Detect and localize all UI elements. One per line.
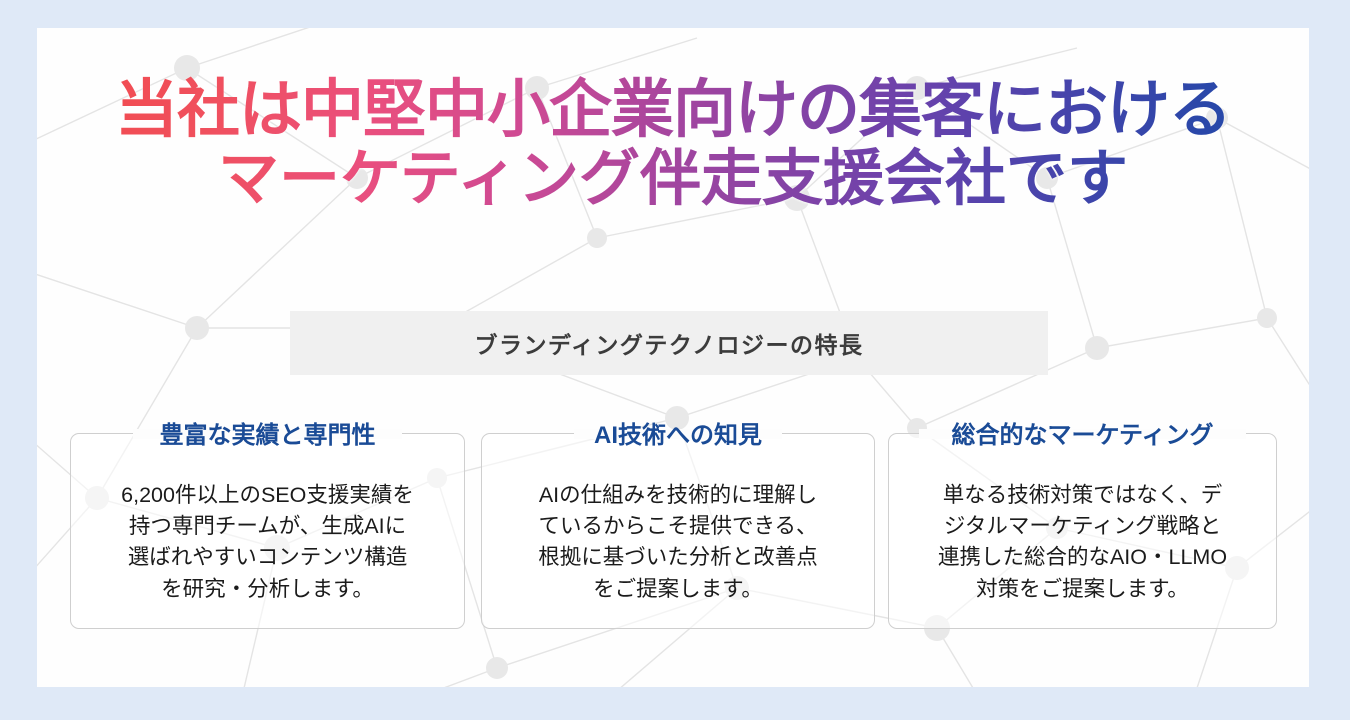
card-title-border-mask — [919, 429, 1246, 439]
feature-card-row: 豊富な実績と専門性 6,200件以上のSEO支援実績を 持つ専門チームが、生成A… — [37, 433, 1309, 663]
feature-card-3: 総合的なマーケティング 単なる技術対策ではなく、デ ジタルマーケティング戦略と … — [888, 433, 1277, 629]
card-body-line: 連携した総合的なAIO・LLMO — [889, 542, 1276, 573]
card-body-2: AIの仕組みを技術的に理解し ているからこそ提供できる、 根拠に基づいた分析と改… — [482, 480, 874, 605]
card-title-border-mask — [133, 429, 402, 439]
headline-line-1: 当社は中堅中小企業向けの集客における — [37, 76, 1309, 145]
card-body-line: 6,200件以上のSEO支援実績を — [71, 480, 464, 511]
card-body-line: 対策をご提案します。 — [889, 574, 1276, 605]
card-body-line: をご提案します。 — [482, 574, 874, 605]
card-body-line: 持つ専門チームが、生成AIに — [71, 511, 464, 542]
feature-card-1: 豊富な実績と専門性 6,200件以上のSEO支援実績を 持つ専門チームが、生成A… — [70, 433, 465, 629]
card-body-3: 単なる技術対策ではなく、デ ジタルマーケティング戦略と 連携した総合的なAIO・… — [889, 480, 1276, 605]
slide-root: 当社は中堅中小企業向けの集客における マーケティング伴走支援会社です ブランディ… — [0, 0, 1350, 720]
card-body-line: を研究・分析します。 — [71, 574, 464, 605]
subtitle-banner: ブランディングテクノロジーの特長 — [290, 311, 1048, 375]
card-body-line: 根拠に基づいた分析と改善点 — [482, 542, 874, 573]
feature-card-2: AI技術への知見 AIの仕組みを技術的に理解し ているからこそ提供できる、 根拠… — [481, 433, 875, 629]
card-body-line: 選ばれやすいコンテンツ構造 — [71, 542, 464, 573]
card-title-border-mask — [574, 429, 782, 439]
slide-canvas: 当社は中堅中小企業向けの集客における マーケティング伴走支援会社です ブランディ… — [37, 28, 1309, 687]
card-body-line: ジタルマーケティング戦略と — [889, 511, 1276, 542]
page-title: 当社は中堅中小企業向けの集客における マーケティング伴走支援会社です — [37, 76, 1309, 212]
card-body-line: ているからこそ提供できる、 — [482, 511, 874, 542]
card-body-line: AIの仕組みを技術的に理解し — [482, 480, 874, 511]
headline-line-2: マーケティング伴走支援会社です — [37, 145, 1309, 212]
card-body-1: 6,200件以上のSEO支援実績を 持つ専門チームが、生成AIに 選ばれやすいコ… — [71, 480, 464, 605]
card-body-line: 単なる技術対策ではなく、デ — [889, 480, 1276, 511]
subtitle-banner-text: ブランディングテクノロジーの特長 — [474, 326, 863, 360]
